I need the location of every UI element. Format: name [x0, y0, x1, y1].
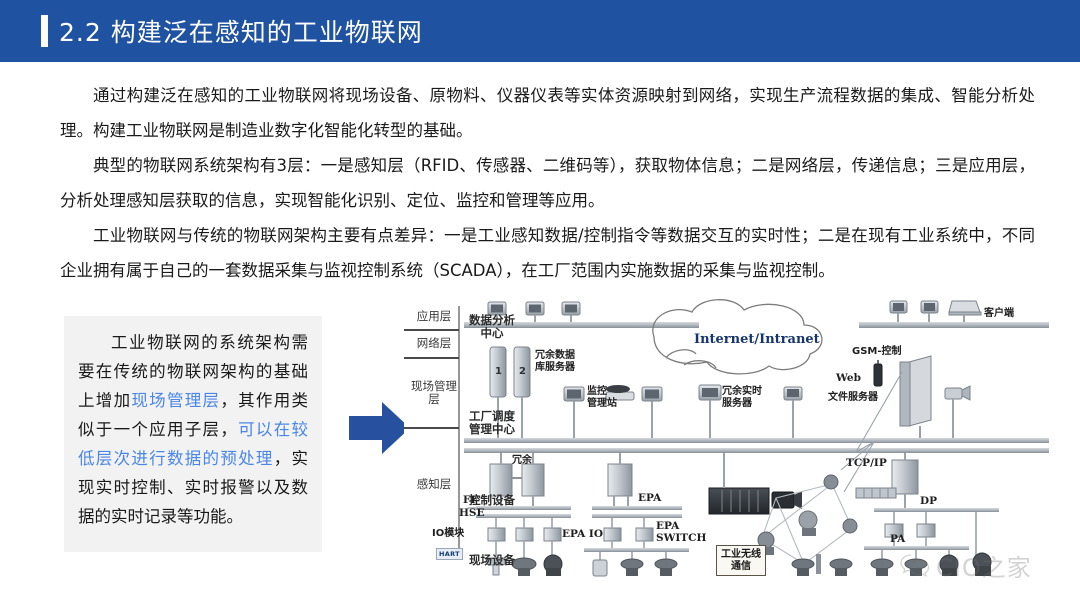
callout-text: 工业物联网的系统架构需要在传统的物联网架构的基础上增加现场管理层，其作用类似于一…	[78, 328, 308, 531]
watermark: CIO之家	[900, 548, 1032, 583]
label-hse: HSE	[459, 507, 485, 519]
column-label-field-device: 现场设备	[462, 554, 522, 567]
layer-label-application: 应用层	[410, 310, 458, 323]
label-industrial-wireless: 工业无线 通信	[716, 545, 766, 576]
slide-header: 2.2 构建泛在感知的工业物联网	[0, 0, 1080, 62]
column-label-data-center: 数据分析 中心	[464, 314, 520, 340]
label-redundant: 冗余	[512, 455, 532, 467]
watermark-text: CIO之家	[936, 548, 1032, 583]
cloud-label-internet: Internet/Intranet	[694, 332, 820, 347]
label-monitor-station: 监控 管理站	[587, 386, 617, 409]
label-hart: HART	[436, 548, 463, 560]
factory-line2: 管理中心	[469, 422, 515, 436]
label-db-number-1: 1	[495, 366, 502, 378]
monitor-station-line2: 管理站	[587, 398, 617, 409]
callout-box: 工业物联网的系统架构需要在传统的物联网架构的基础上增加现场管理层，其作用类似于一…	[64, 316, 322, 552]
label-epa-switch: EPA SWITCH	[656, 520, 706, 544]
label-dp: DP	[920, 495, 937, 507]
layer-label-network: 网络层	[410, 337, 458, 350]
column-label-factory-dispatch: 工厂调度 管理中心	[462, 410, 522, 436]
slide-root: 2.2 构建泛在感知的工业物联网 通过构建泛在感知的工业物联网将现场设备、原物料…	[0, 0, 1080, 607]
label-file-server: 文件服务器	[828, 392, 878, 404]
paragraph-3: 工业物联网与传统的物联网架构主要有点差异：一是工业感知数据/控制指令等数据交互的…	[60, 218, 1035, 288]
data-center-line2: 中心	[481, 326, 504, 340]
label-io-module: IO模块	[432, 528, 464, 540]
paragraph-2: 典型的物联网系统架构有3层：一是感知层（RFID、传感器、二维码等），获取物体信…	[60, 148, 1035, 218]
header-accent-bar	[41, 15, 48, 47]
label-gsm-control: GSM-控制	[852, 346, 902, 358]
label-tcpip: TCP/IP	[846, 457, 887, 469]
redundant-db-line2: 库服务器	[535, 362, 575, 373]
epa-switch-line2: SWITCH	[656, 532, 706, 544]
factory-line1: 工厂调度	[469, 409, 515, 423]
wireless-line1: 工业无线	[721, 549, 761, 560]
label-redundant-realtime-server: 冗余实时 服务器	[722, 386, 762, 409]
label-pa: PA	[890, 533, 905, 545]
paragraph-1: 通过构建泛在感知的工业物联网将现场设备、原物料、仪器仪表等实体资源映射到网络，实…	[60, 78, 1035, 148]
redundant-rt-line1: 冗余实时	[722, 386, 762, 397]
epa-switch-line1: EPA	[656, 520, 679, 532]
label-redundant-db-server: 冗余数据 库服务器	[535, 350, 575, 373]
layer-label-perception: 感知层	[410, 478, 458, 491]
body-text-block: 通过构建泛在感知的工业物联网将现场设备、原物料、仪器仪表等实体资源映射到网络，实…	[60, 78, 1035, 288]
label-ff: FF	[463, 494, 478, 506]
layer-label-field-management: 现场管理层	[410, 380, 458, 406]
label-db-number-2: 2	[519, 366, 526, 378]
data-center-line1: 数据分析	[469, 313, 515, 327]
wireless-line2: 通信	[731, 561, 751, 572]
label-client: 客户端	[984, 308, 1014, 320]
redundant-db-line1: 冗余数据	[535, 350, 575, 361]
label-epa: EPA	[638, 492, 661, 504]
wechat-icon	[900, 553, 930, 579]
label-web: Web	[836, 372, 861, 384]
right-arrow-icon	[349, 400, 411, 456]
iiot-architecture-diagram: 应用层 网络层 现场管理层 感知层 数据分析 中心 工厂调度 管理中心 控制设备…	[404, 292, 1064, 577]
label-epa-io: EPA IO	[562, 528, 603, 540]
callout-highlight-field-mgmt-layer: 现场管理层	[131, 391, 220, 410]
page-title: 2.2 构建泛在感知的工业物联网	[59, 13, 423, 49]
redundant-rt-line2: 服务器	[722, 398, 752, 409]
monitor-station-line1: 监控	[587, 386, 607, 397]
